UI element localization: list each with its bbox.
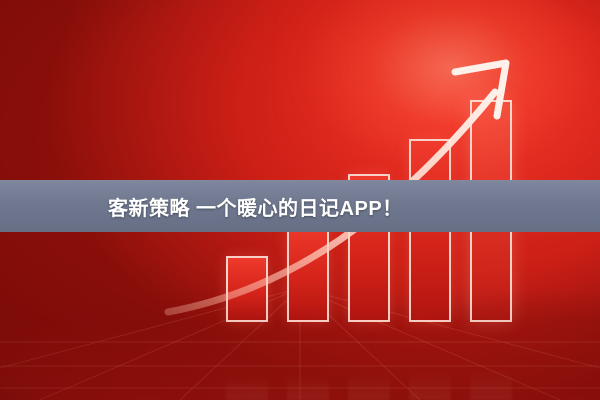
screenshot-root: 客新策略 一个暖心的日记APP！ (0, 0, 600, 400)
caption-banner: 客新策略 一个暖心的日记APP！ (0, 180, 600, 232)
caption-text: 客新策略 一个暖心的日记APP！ (0, 192, 403, 221)
